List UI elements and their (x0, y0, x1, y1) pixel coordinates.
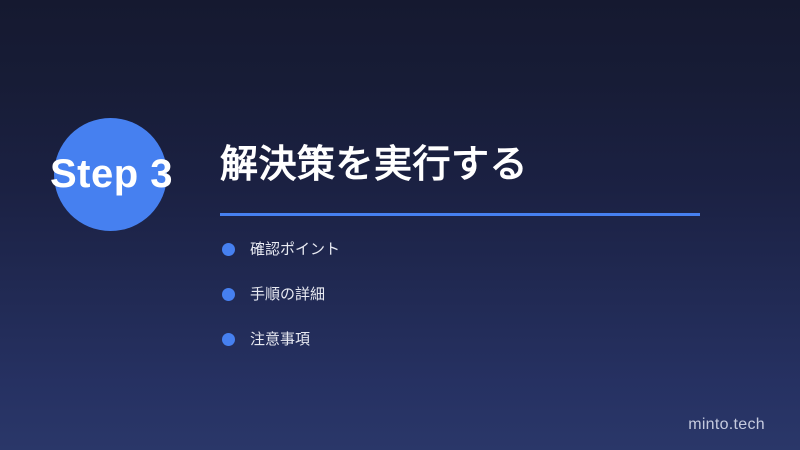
bullet-dot-icon (222, 243, 235, 256)
list-item: 注意事項 (222, 328, 652, 351)
title-block: 解決策を実行する (220, 140, 720, 216)
list-item-label: 手順の詳細 (250, 283, 325, 306)
title-divider (220, 213, 700, 216)
bullet-list: 確認ポイント 手順の詳細 注意事項 (222, 238, 652, 373)
list-item: 確認ポイント (222, 238, 652, 261)
list-item: 手順の詳細 (222, 283, 652, 306)
presentation-slide: Step 3 解決策を実行する 確認ポイント 手順の詳細 注意事項 minto.… (0, 0, 800, 450)
footer-brand: minto.tech (688, 416, 765, 434)
bullet-dot-icon (222, 288, 235, 301)
bullet-dot-icon (222, 333, 235, 346)
list-item-label: 確認ポイント (250, 238, 340, 261)
slide-title: 解決策を実行する (220, 140, 720, 190)
list-item-label: 注意事項 (250, 328, 310, 351)
step-badge-label: Step 3 (50, 148, 210, 200)
